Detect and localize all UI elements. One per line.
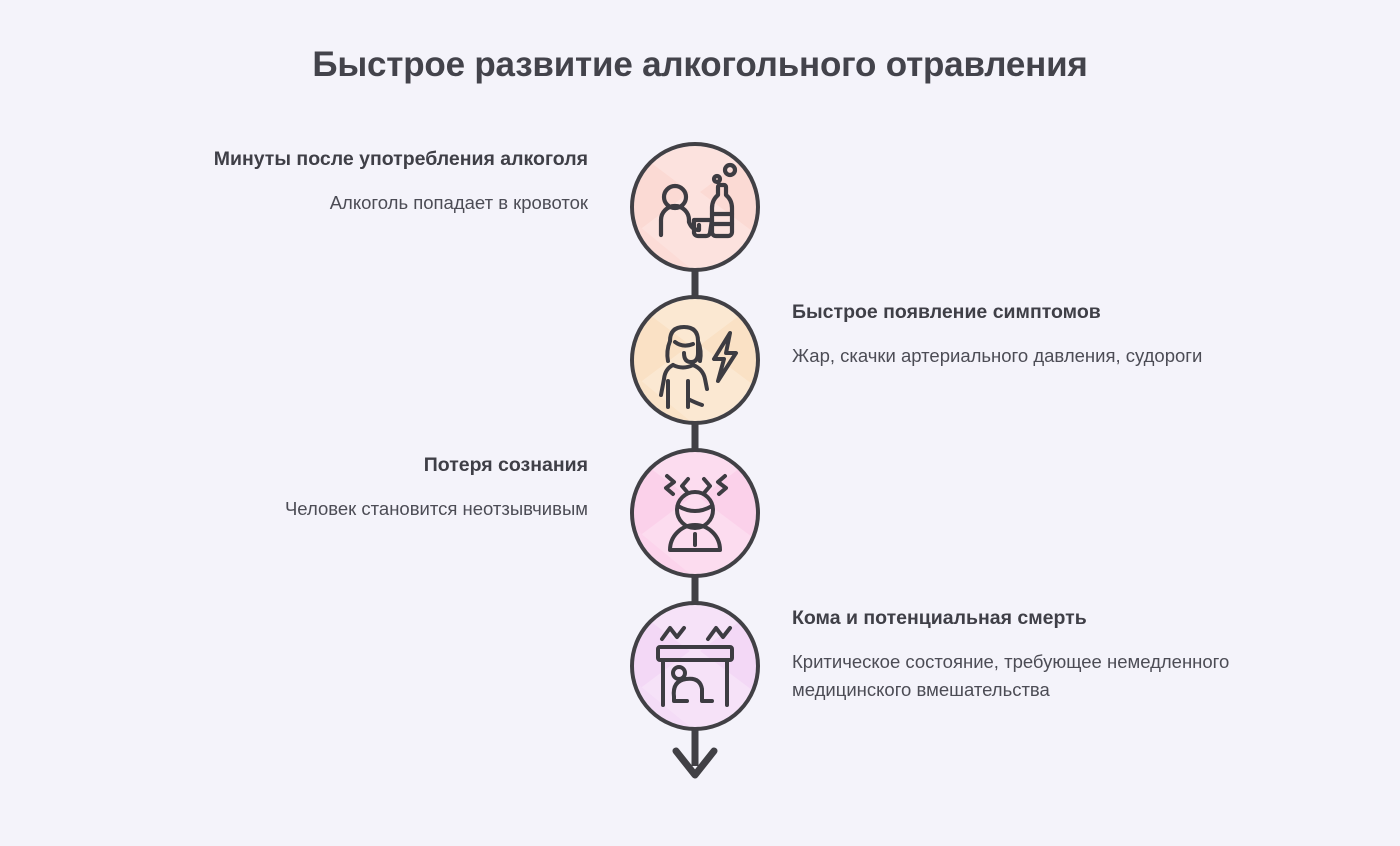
page-title: Быстрое развитие алкогольного отравления	[0, 44, 1400, 86]
node-ring-2	[630, 295, 760, 425]
infographic-root: Быстрое развитие алкогольного отравления	[0, 0, 1400, 846]
step-node-2[interactable]	[630, 295, 760, 425]
node-ring-3	[630, 448, 760, 578]
step-title-4: Кома и потенциальная смерть	[792, 604, 1242, 632]
step-title-3: Потеря сознания	[158, 451, 588, 479]
step-description-4: Критическое состояние, требующее немедле…	[792, 648, 1242, 704]
step-text-2: Быстрое появление симптомов Жар, скачки …	[792, 298, 1242, 370]
down-arrow-icon	[676, 751, 714, 775]
node-ring-4	[630, 601, 760, 731]
step-node-4[interactable]	[630, 601, 760, 731]
step-text-3: Потеря сознания Человек становится неотз…	[158, 451, 588, 523]
step-text-1: Минуты после употребления алкоголя Алког…	[158, 145, 588, 217]
step-text-4: Кома и потенциальная смерть Критическое …	[792, 604, 1242, 704]
step-description-1: Алкоголь попадает в кровоток	[158, 189, 588, 217]
node-ring-1	[630, 142, 760, 272]
step-node-1[interactable]	[630, 142, 760, 272]
step-description-3: Человек становится неотзывчивым	[158, 495, 588, 523]
step-title-1: Минуты после употребления алкоголя	[158, 145, 588, 173]
step-node-3[interactable]	[630, 448, 760, 578]
step-description-2: Жар, скачки артериального давления, судо…	[792, 342, 1242, 370]
step-title-2: Быстрое появление симптомов	[792, 298, 1242, 326]
